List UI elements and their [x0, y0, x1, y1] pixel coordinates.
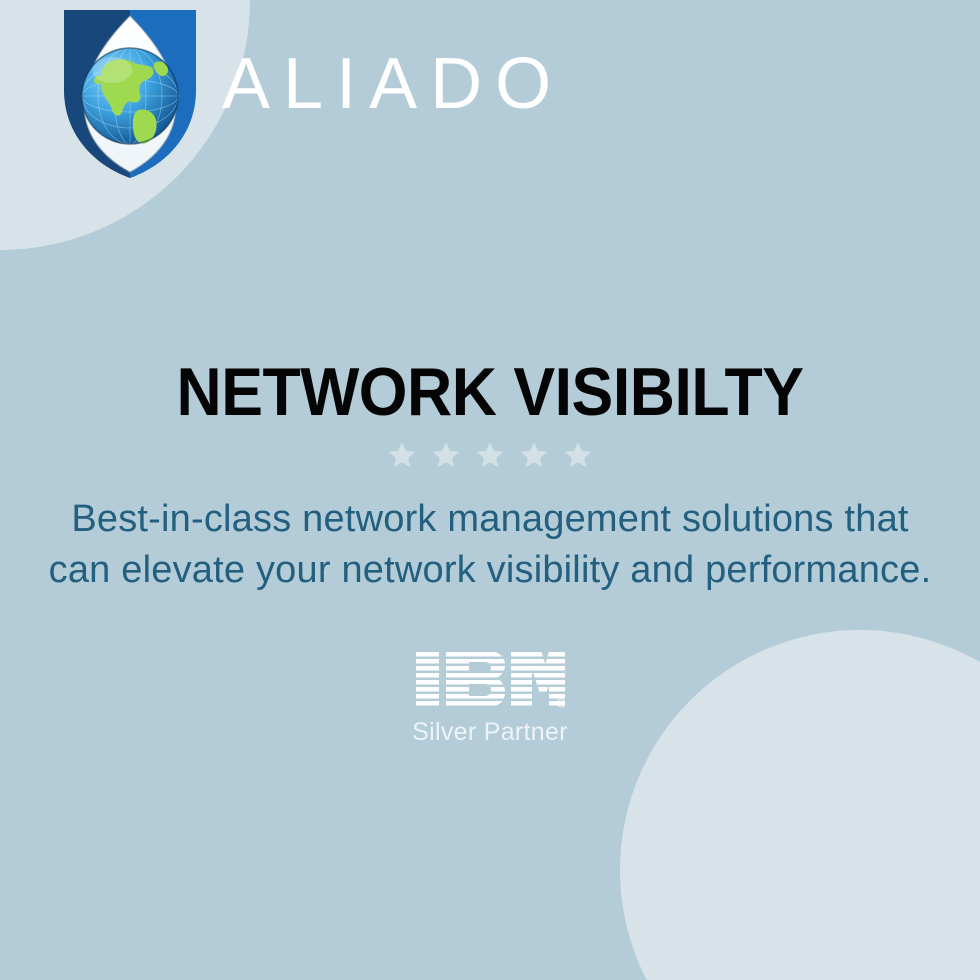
- page-title: NETWORK VISIBILTY: [39, 358, 941, 426]
- star-icon: [475, 440, 505, 470]
- star-icon: [563, 440, 593, 470]
- promo-card: ALIADO NETWORK VISIBILTY Best-in-class n…: [0, 0, 980, 980]
- svg-text:R: R: [559, 701, 563, 707]
- brand-header: ALIADO: [0, 0, 700, 190]
- brand-name: ALIADO: [222, 48, 564, 120]
- shield-globe-logo-icon: [60, 6, 200, 182]
- tagline-text: Best-in-class network management solutio…: [40, 494, 940, 595]
- star-icon: [431, 440, 461, 470]
- ibm-logo-icon: R: [415, 650, 565, 712]
- ibm-partner-badge: R Silver Partner: [0, 650, 980, 745]
- star-icon: [387, 440, 417, 470]
- partner-tier-label: Silver Partner: [412, 720, 568, 745]
- star-rating: [0, 440, 980, 470]
- star-icon: [519, 440, 549, 470]
